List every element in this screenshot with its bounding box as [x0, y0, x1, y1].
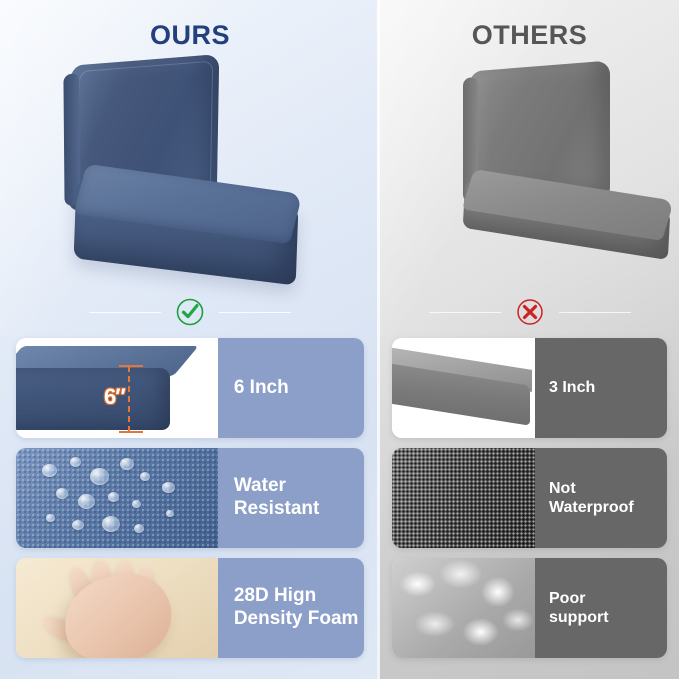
ours-feature-label-water: WaterResistant	[218, 448, 364, 548]
ours-feature-card-foam[interactable]: 28D HignDensity Foam	[16, 558, 364, 658]
water-bead	[90, 468, 109, 485]
others-feature-card-water[interactable]: NotWaterproof	[392, 448, 667, 548]
ours-cushion-photo	[0, 46, 380, 296]
water-bead	[70, 457, 81, 467]
ours-feature-card-thickness[interactable]: 6″ 6 Inch	[16, 338, 364, 438]
dimension-line-icon	[128, 366, 130, 432]
ours-feature-label-foam: 28D HignDensity Foam	[218, 558, 364, 658]
ours-feature-list: 6″ 6 Inch	[0, 338, 380, 668]
dark-mesh-fabric-image	[392, 448, 535, 548]
check-circle-icon	[175, 297, 205, 327]
loose-fiber-fill-image	[392, 558, 535, 658]
water-bead	[120, 458, 134, 470]
water-bead	[72, 520, 84, 530]
water-bead	[78, 494, 95, 509]
verdict-divider-right	[219, 312, 291, 313]
hand-on-memory-foam-image	[16, 558, 218, 658]
water-bead	[132, 500, 141, 508]
water-bead	[140, 472, 150, 481]
water-bead	[166, 510, 174, 517]
comparison-infographic: OURS	[0, 0, 679, 679]
others-verdict	[380, 297, 679, 327]
others-feature-card-thickness[interactable]: 3 Inch	[392, 338, 667, 438]
water-bead	[134, 524, 144, 533]
others-cushion-photo	[380, 46, 679, 296]
foam-slab-shape: 6″	[16, 346, 202, 430]
verdict-divider-right	[559, 312, 631, 313]
ours-feature-label-thickness: 6 Inch	[218, 338, 364, 438]
thin-slab-shape	[392, 338, 535, 438]
thin-gray-slab-image	[392, 338, 535, 438]
dimension-callout-label: 6″	[104, 384, 125, 410]
water-beads-fabric-image	[16, 448, 218, 548]
water-bead	[42, 464, 57, 477]
water-bead	[102, 516, 120, 532]
others-feature-label-support: Poorsupport	[535, 558, 667, 658]
others-feature-card-support[interactable]: Poorsupport	[392, 558, 667, 658]
ours-verdict	[0, 297, 380, 327]
verdict-divider-left	[429, 312, 501, 313]
cross-circle-icon	[515, 297, 545, 327]
fiber-fill-texture	[392, 558, 535, 658]
ours-feature-card-water[interactable]: WaterResistant	[16, 448, 364, 548]
water-bead	[46, 514, 55, 522]
water-bead	[108, 492, 119, 502]
water-bead	[56, 488, 68, 499]
others-feature-label-water: NotWaterproof	[535, 448, 667, 548]
mesh-texture	[392, 448, 535, 548]
water-bead	[162, 482, 175, 493]
verdict-divider-left	[89, 312, 161, 313]
others-feature-list: 3 Inch NotWaterproof Poorsupport	[380, 338, 679, 668]
others-feature-label-thickness: 3 Inch	[535, 338, 667, 438]
ours-panel: OURS	[0, 0, 380, 679]
others-panel: OTHERS	[380, 0, 679, 679]
navy-foam-slab-image: 6″	[16, 338, 218, 438]
slab-front-face	[16, 368, 170, 430]
